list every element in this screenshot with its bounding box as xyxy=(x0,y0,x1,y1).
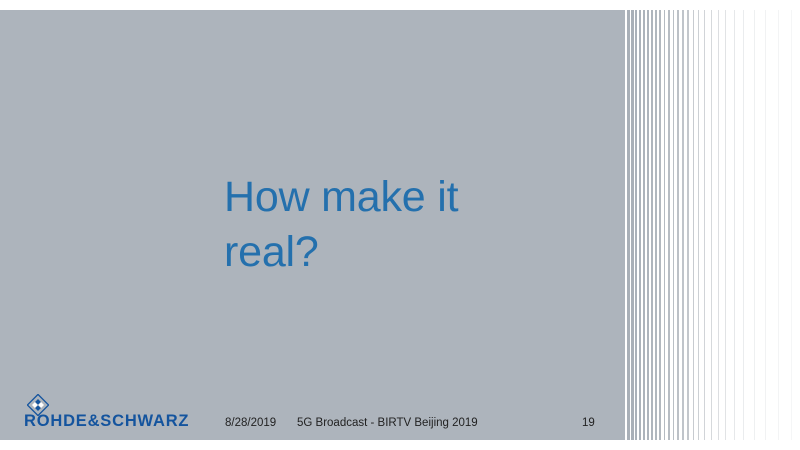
stripe-1 xyxy=(631,10,634,440)
footer-page-number: 19 xyxy=(582,417,595,429)
stripe-15 xyxy=(693,10,694,440)
stripe-4 xyxy=(643,10,645,440)
stripe-12 xyxy=(677,10,679,440)
stripe-23 xyxy=(754,10,755,440)
stripe-13 xyxy=(682,10,684,440)
rohde-schwarz-logo: ROHDE&SCHWARZ xyxy=(24,394,184,434)
footer-date: 8/28/2019 xyxy=(225,417,276,429)
stripe-25 xyxy=(778,10,779,440)
stripe-22 xyxy=(743,10,744,440)
stripe-7 xyxy=(655,10,657,440)
stripe-17 xyxy=(704,10,705,440)
stripe-16 xyxy=(698,10,699,440)
stripe-26 xyxy=(791,10,792,440)
stripe-19 xyxy=(718,10,719,440)
stripe-9 xyxy=(664,10,666,440)
slide-footer: ROHDE&SCHWARZ 8/28/2019 5G Broadcast - B… xyxy=(0,390,800,440)
slide-title: How make it real? xyxy=(224,170,604,280)
stripe-24 xyxy=(765,10,766,440)
slide-canvas: How make it real? ROHDE&SCHWARZ 8/28/201… xyxy=(0,10,800,440)
stripe-5 xyxy=(647,10,649,440)
rohde-schwarz-wordmark: ROHDE&SCHWARZ xyxy=(24,412,189,431)
stripe-20 xyxy=(725,10,726,440)
footer-subject: 5G Broadcast - BIRTV Beijing 2019 xyxy=(297,417,478,429)
stripe-10 xyxy=(668,10,670,440)
stripe-2 xyxy=(635,10,637,440)
stripe-0 xyxy=(627,10,630,440)
stripe-14 xyxy=(687,10,689,440)
stripe-11 xyxy=(673,10,675,440)
slide-title-line-2: real? xyxy=(224,225,604,280)
stripe-3 xyxy=(639,10,641,440)
stripe-6 xyxy=(651,10,653,440)
stripe-21 xyxy=(734,10,735,440)
stripe-18 xyxy=(711,10,712,440)
slide-title-line-1: How make it xyxy=(224,170,604,225)
vertical-stripes-decoration xyxy=(625,10,800,440)
stripe-8 xyxy=(659,10,661,440)
